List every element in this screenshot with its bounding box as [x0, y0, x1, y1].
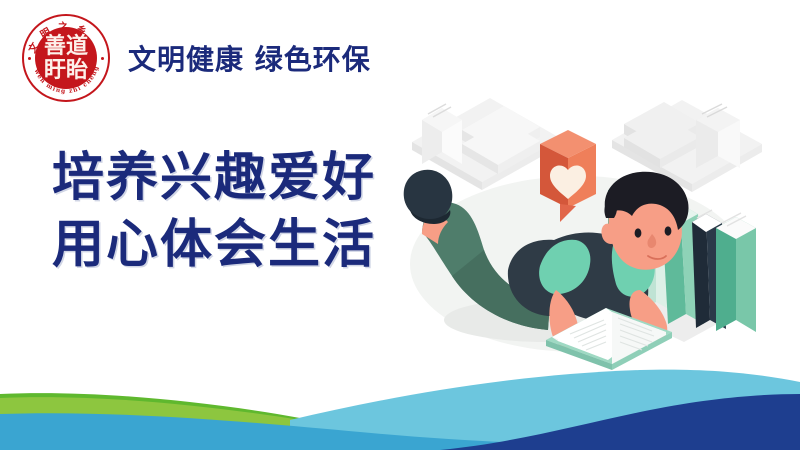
- reading-illustration: [400, 24, 800, 374]
- person-eye-left: [635, 228, 642, 237]
- seal-core-line2: 盱眙: [44, 59, 88, 81]
- campaign-slogan: 文明健康 绿色环保: [128, 38, 371, 78]
- bottom-wave-decoration: [0, 360, 800, 450]
- seal-dot-left: [28, 57, 31, 60]
- page-title: 培养兴趣爱好 用心体会生活: [52, 145, 376, 278]
- poster-canvas: 文明之乡 wen ming zhi cheng 善道 盱眙 文明健康 绿色环保 …: [0, 0, 800, 450]
- headline-line-1: 培养兴趣爱好: [52, 145, 376, 212]
- person-eye-right: [665, 226, 672, 235]
- seal-core-line1: 善道: [44, 35, 88, 57]
- poster-header: 文明之乡 wen ming zhi cheng 善道 盱眙 文明健康 绿色环保: [22, 14, 371, 102]
- headline-line-2: 用心体会生活: [52, 212, 376, 279]
- logo-seal: 文明之乡 wen ming zhi cheng 善道 盱眙: [22, 14, 110, 102]
- person-shoe: [404, 170, 453, 221]
- seal-core-text: 善道 盱眙: [35, 27, 97, 89]
- seal-dot-right: [101, 57, 104, 60]
